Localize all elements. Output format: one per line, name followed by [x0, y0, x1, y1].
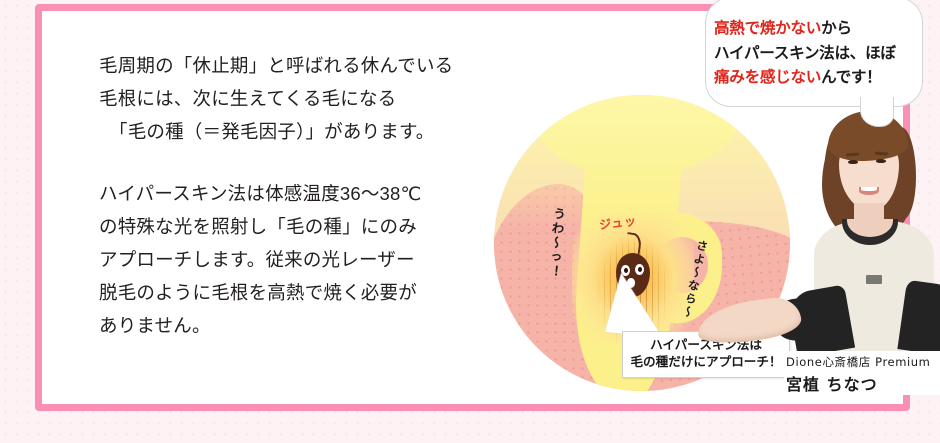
- speech-balloon-text: 高熱で焼かないから ハイパースキン法は、ほぼ 痛みを感じないんです！: [714, 16, 919, 90]
- copy-line: の特殊な光を照射し「毛の種」にのみ: [99, 216, 417, 237]
- callout-pointer-icon: [605, 272, 669, 338]
- callout-line-2: 毛の種だけにアプローチ！: [630, 354, 782, 371]
- copy-line: アプローチします。従来の光レーザー: [99, 249, 415, 270]
- balloon-line1-rest: から: [821, 19, 852, 37]
- balloon-line3-rest: んです！: [821, 68, 881, 86]
- shop-name: Dione心斎橋店 Premium: [786, 354, 940, 370]
- mouth-smile: [859, 187, 879, 195]
- copy-paragraph-2: ハイパースキン法は体感温度36〜38℃ の特殊な光を照射し「毛の種」にのみ アプ…: [99, 177, 499, 342]
- seed-eye-right-icon: [635, 264, 644, 275]
- copy-line: 毛周期の「休止期」と呼ばれる休んでいる: [99, 55, 453, 76]
- uniform-logo-icon: [866, 275, 882, 284]
- copy-line: ありません。: [99, 315, 211, 336]
- copy-paragraph-1: 毛周期の「休止期」と呼ばれる休んでいる 毛根には、次に生えてくる毛になる 「毛の…: [99, 49, 499, 148]
- speech-balloon-tail-seam: [861, 93, 893, 100]
- explanatory-copy: 毛周期の「休止期」と呼ばれる休んでいる 毛根には、次に生えてくる毛になる 「毛の…: [99, 49, 499, 342]
- copy-line: 毛根には、次に生えてくる毛になる: [99, 88, 396, 109]
- speech-balloon-tail: [860, 97, 894, 127]
- copy-line: 脱毛のように毛根を高熱で焼く必要が: [99, 282, 417, 303]
- eye-left: [848, 160, 858, 164]
- balloon-line1-highlight: 高熱で焼かない: [714, 19, 821, 37]
- balloon-line2: ハイパースキン法は、ほぼ: [714, 44, 896, 62]
- light-sheen: [494, 95, 790, 231]
- staff-nameplate: Dione心斎橋店 Premium 宮植 ちなつ: [784, 351, 940, 395]
- eye-right: [876, 159, 886, 163]
- content-frame: 毛周期の「休止期」と呼ばれる休んでいる 毛根には、次に生えてくる毛になる 「毛の…: [35, 4, 910, 411]
- staff-name: 宮植 ちなつ: [786, 371, 940, 395]
- copy-line: 「毛の種（＝発毛因子）」があります。: [99, 121, 435, 142]
- copy-line: ハイパースキン法は体感温度36〜38℃: [99, 183, 422, 204]
- balloon-line3-highlight: 痛みを感じない: [714, 68, 821, 86]
